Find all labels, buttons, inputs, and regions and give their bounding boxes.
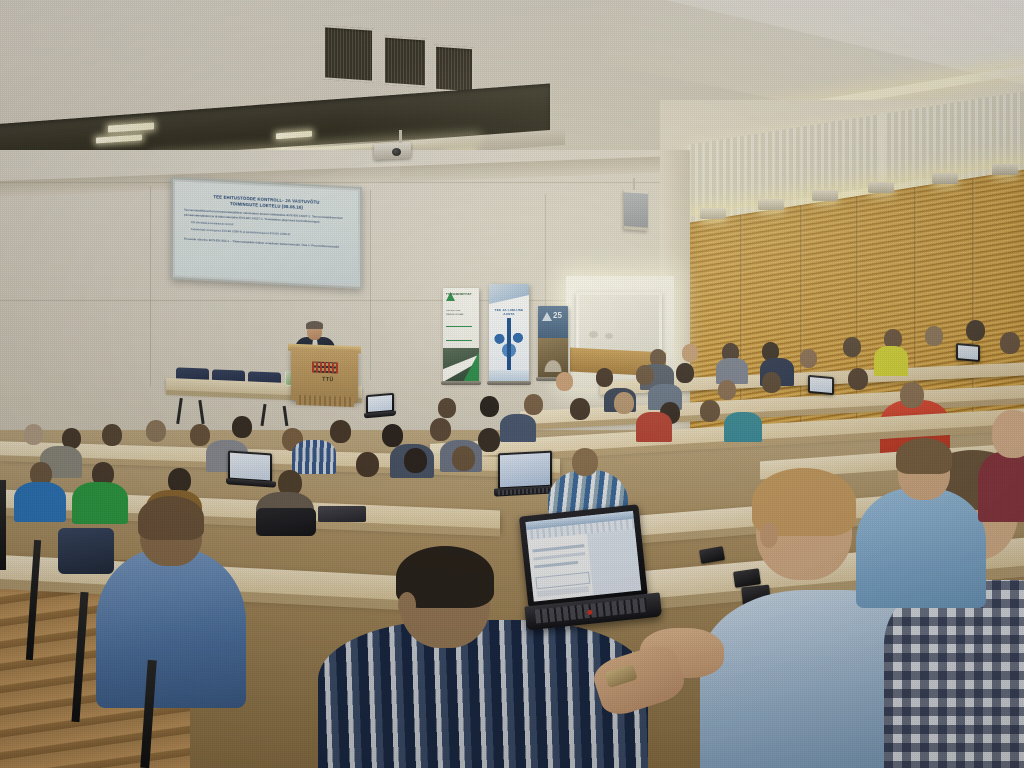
laptop-display xyxy=(810,377,832,393)
banner-center: TEE JA LIIKLUSE AASTA xyxy=(489,284,529,382)
audience-torso xyxy=(500,414,536,442)
audience-head xyxy=(572,448,598,476)
whiteboard[interactable] xyxy=(576,292,662,356)
wall-lamp-2 xyxy=(758,199,784,210)
wall-seam-4 xyxy=(0,300,660,301)
wall-seam-1 xyxy=(150,186,151,386)
whiteboard-mark-2 xyxy=(605,333,613,339)
ceiling-vent-panel-1 xyxy=(323,25,374,83)
wall-speaker xyxy=(624,189,648,231)
audience-head xyxy=(596,368,613,387)
audience-head xyxy=(614,392,634,414)
audience-head xyxy=(404,448,427,473)
laptop[interactable] xyxy=(956,343,980,362)
audience-head xyxy=(146,420,166,442)
presenter-hair xyxy=(306,321,323,329)
audience-head xyxy=(190,424,210,446)
audience-torso-blue-foreground xyxy=(96,548,246,708)
audience-torso-blue xyxy=(14,482,66,522)
banner-left-title: TTÜ TEEDEINSTITUUT xyxy=(446,293,476,296)
audience-head xyxy=(382,424,403,447)
audience-torso-green xyxy=(72,482,128,524)
audience-torso-checked-foreground xyxy=(884,580,1024,768)
banner-left-base xyxy=(441,381,481,385)
audience-head xyxy=(570,398,590,420)
audience-head xyxy=(356,452,379,477)
audience-head xyxy=(1000,332,1020,354)
ceiling-vent-panel-2 xyxy=(383,35,427,87)
folder-on-desk xyxy=(318,506,366,522)
audience-torso-blue-sweater xyxy=(856,488,986,608)
wall-lamp-6 xyxy=(992,164,1018,175)
laptop-display xyxy=(368,395,392,412)
laptop[interactable] xyxy=(498,451,552,490)
laptop-app-content xyxy=(587,529,641,596)
wall-lamp-1 xyxy=(700,208,726,219)
audience-head xyxy=(232,416,252,438)
banner-right-mark-icon xyxy=(542,312,552,321)
projection-screen: TEE EHITUSTÖÖDE KONTROLL- JA VASTUVÕTU T… xyxy=(171,177,362,289)
audience-head xyxy=(452,446,475,471)
banner-left: TTÜ TEEDEINSTITUUT TEE-EHITUSE TEHNOLOOG… xyxy=(443,288,479,382)
audience-torso-red xyxy=(636,412,672,442)
audience-head xyxy=(676,363,694,383)
whiteboard-mark-1 xyxy=(589,331,598,338)
banner-center-road-graphic-icon xyxy=(493,318,525,370)
banner-right-road-icon xyxy=(540,354,566,372)
banner-center-title: TEE JA LIIKLUSE AASTA xyxy=(492,308,526,316)
audience-torso xyxy=(716,358,748,384)
wall-lamp-5 xyxy=(932,173,958,184)
audience-head xyxy=(925,326,943,346)
wall-seam-2 xyxy=(370,190,371,380)
jacket-on-desk xyxy=(256,508,316,536)
backpack xyxy=(58,528,114,574)
laptop-display xyxy=(958,345,978,360)
laptop-display xyxy=(525,511,641,602)
audience-ear xyxy=(398,592,416,618)
laptop[interactable] xyxy=(228,450,272,482)
audience-head xyxy=(102,424,122,446)
audience-head xyxy=(800,349,817,368)
wall-lamp-3 xyxy=(812,190,838,201)
lecture-hall-photo: TEE EHITUSTÖÖDE KONTROLL- JA VASTUVÕTU T… xyxy=(0,0,1024,768)
audience-head xyxy=(966,320,985,341)
audience-torso-teal xyxy=(724,412,762,442)
audience-hair xyxy=(138,496,204,540)
audience-head xyxy=(718,380,736,400)
banner-left-rule-1 xyxy=(446,326,472,327)
audience-head xyxy=(24,424,43,445)
audience-hair xyxy=(896,438,952,474)
laptop-display xyxy=(230,453,270,481)
audience-torso-maroon xyxy=(978,452,1024,522)
banner-center-header xyxy=(489,284,529,304)
audience-head xyxy=(843,337,861,357)
blind-divider-5 xyxy=(972,177,975,447)
audience-torso-yellow xyxy=(874,346,908,376)
podium-logo-icon xyxy=(312,362,338,374)
audience-head xyxy=(480,396,499,417)
banner-left-rule-2 xyxy=(446,340,472,341)
laptop[interactable] xyxy=(808,375,834,395)
audience-head xyxy=(682,344,698,362)
audience-head xyxy=(438,398,456,418)
audience-head xyxy=(330,420,351,443)
audience-head xyxy=(430,418,451,441)
podium-logo-text: TTÜ xyxy=(316,377,340,384)
banner-left-subtitle: TEE-EHITUSE TEHNOLOOGIAD xyxy=(446,310,476,317)
foreground-laptop[interactable] xyxy=(519,504,653,620)
wall-seam-5 xyxy=(0,182,660,183)
banner-center-base xyxy=(487,381,531,385)
audience-ear xyxy=(760,522,778,548)
ceiling-vent-panel-3 xyxy=(434,45,474,94)
audience-head xyxy=(848,368,868,390)
audience-head xyxy=(762,372,781,393)
audience-head xyxy=(524,394,543,415)
banner-right: 25 xyxy=(538,306,568,378)
audience-torso-stripe xyxy=(292,440,336,474)
audience-head xyxy=(636,365,654,385)
banner-right-number: 25 xyxy=(553,311,562,320)
audience-head xyxy=(556,372,573,391)
projection-screen-surface: TEE EHITUSTÖÖDE KONTROLL- JA VASTUVÕTU T… xyxy=(175,181,358,285)
audience-head xyxy=(700,400,720,422)
projector-lens-icon xyxy=(392,148,401,156)
aisle-rail-4 xyxy=(0,480,6,570)
laptop-display xyxy=(500,453,550,488)
audience-head xyxy=(992,410,1024,458)
wall-lamp-4 xyxy=(868,182,894,193)
audience-head xyxy=(900,382,924,408)
